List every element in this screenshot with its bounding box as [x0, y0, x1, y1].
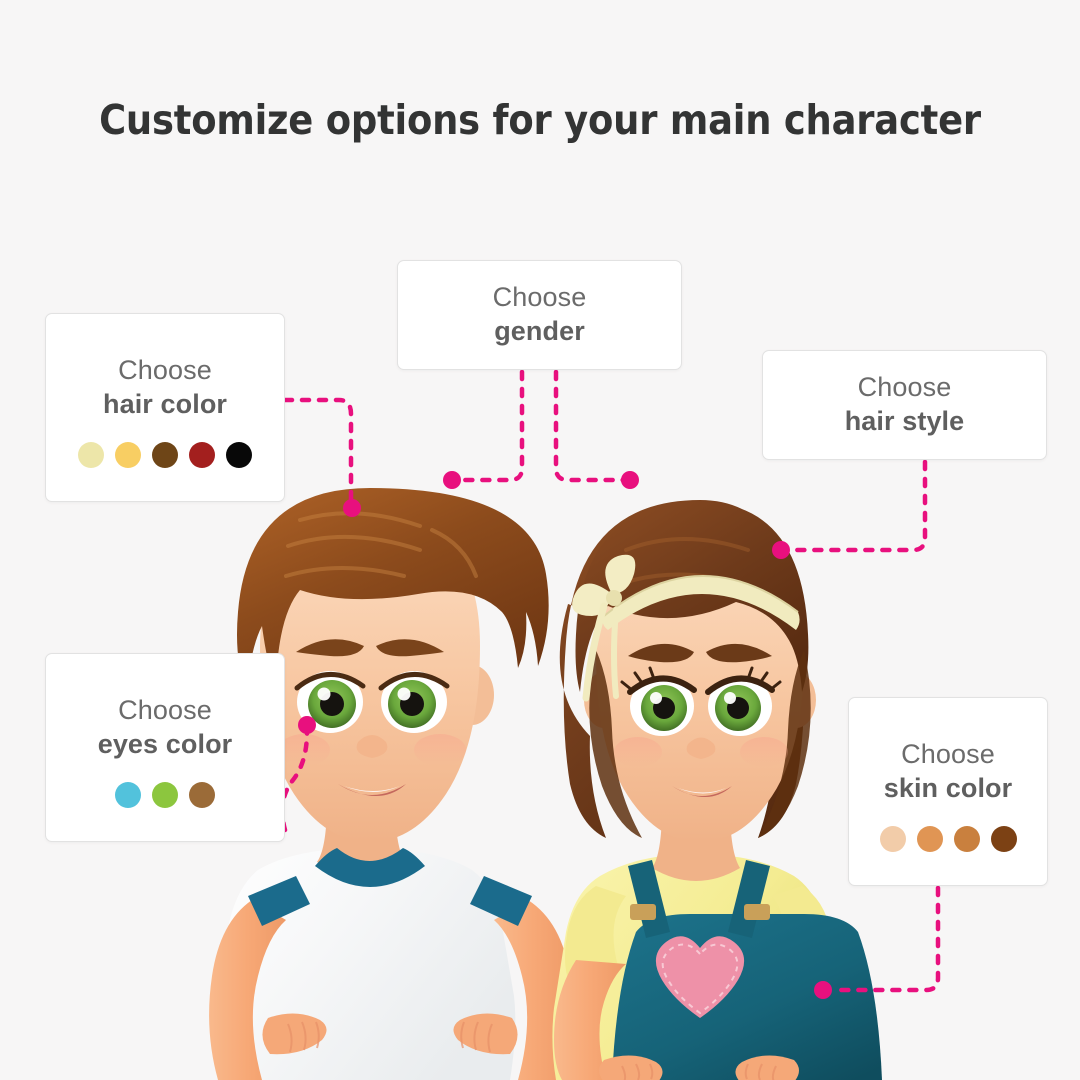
page-title: Customize options for your main characte… [0, 96, 1080, 144]
card-skin-color[interactable]: Choose skin color [848, 697, 1048, 886]
swatch-eyes-green[interactable] [152, 782, 178, 808]
card-skin-color-line2: skin color [884, 773, 1013, 805]
skin-color-swatches [880, 826, 1017, 852]
swatch-medium-brown[interactable] [152, 442, 178, 468]
hair-color-swatches [78, 442, 252, 468]
card-eyes-color[interactable]: Choose eyes color [45, 653, 285, 842]
card-eyes-color-line2: eyes color [98, 729, 233, 761]
card-hair-style-line1: Choose [858, 372, 952, 404]
girl-character [552, 500, 882, 1080]
swatch-skin-tan[interactable] [917, 826, 943, 852]
boy-eye-right [381, 671, 447, 733]
swatch-golden-blonde[interactable] [115, 442, 141, 468]
card-hair-style[interactable]: Choose hair style [762, 350, 1047, 460]
card-hair-style-line2: hair style [845, 406, 965, 438]
card-hair-color-line1: Choose [118, 355, 212, 387]
customizer-screen: Customize options for your main characte… [0, 0, 1080, 1080]
boy-eye-left [297, 671, 363, 733]
eyes-color-swatches [115, 782, 215, 808]
swatch-eyes-brown[interactable] [189, 782, 215, 808]
swatch-eyes-blue[interactable] [115, 782, 141, 808]
swatch-skin-dark-brown[interactable] [991, 826, 1017, 852]
card-eyes-color-line1: Choose [118, 695, 212, 727]
swatch-skin-light[interactable] [880, 826, 906, 852]
swatch-black[interactable] [226, 442, 252, 468]
card-skin-color-line1: Choose [901, 739, 995, 771]
swatch-auburn-red[interactable] [189, 442, 215, 468]
swatch-skin-medium-tan[interactable] [954, 826, 980, 852]
card-hair-color-line2: hair color [103, 389, 227, 421]
card-gender-line1: Choose [493, 282, 587, 314]
swatch-platinum-blonde[interactable] [78, 442, 104, 468]
card-hair-color[interactable]: Choose hair color [45, 313, 285, 502]
card-gender-line2: gender [494, 316, 585, 348]
card-gender[interactable]: Choose gender [397, 260, 682, 370]
